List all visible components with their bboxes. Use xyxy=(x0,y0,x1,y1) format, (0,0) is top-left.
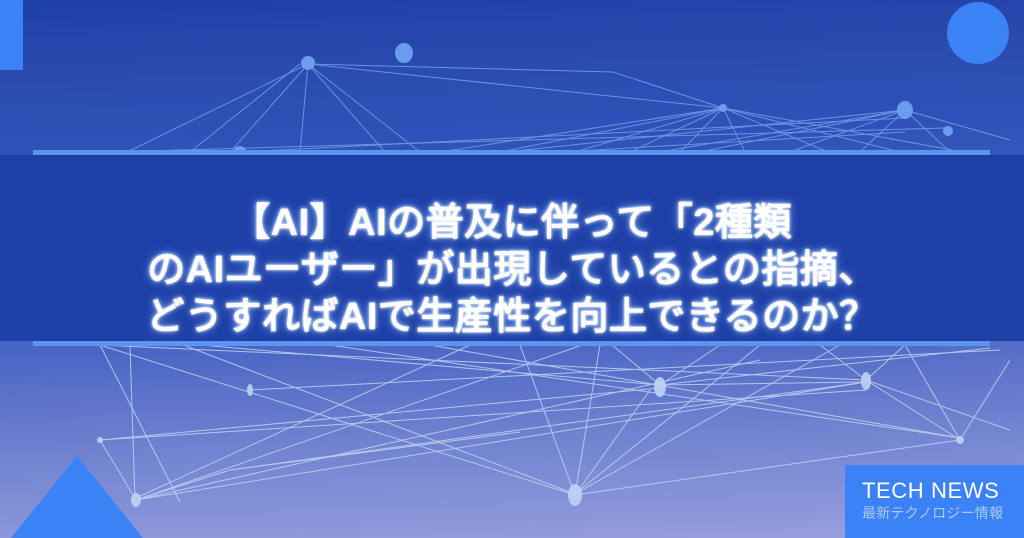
page-title-line-1: 【AI】AIの普及に伴って「2種類 xyxy=(0,200,1024,247)
square-top-left-icon xyxy=(0,0,23,70)
tech-news-banner: 【AI】AIの普及に伴って「2種類 のAIユーザー」が出現しているとの指摘、 ど… xyxy=(0,0,1024,538)
rule-above-band xyxy=(33,150,990,155)
rule-below-band xyxy=(33,341,990,346)
badge-main-label: TECH NEWS xyxy=(862,478,1024,503)
badge-sub-label: 最新テクノロジー情報 xyxy=(862,503,1024,523)
page-title-line-3: どうすればAIで生産性を向上できるのか？ xyxy=(0,294,1024,341)
page-title: 【AI】AIの普及に伴って「2種類 のAIユーザー」が出現しているとの指摘、 ど… xyxy=(0,200,1024,341)
circle-top-right-icon xyxy=(947,2,1009,64)
page-title-line-2: のAIユーザー」が出現しているとの指摘、 xyxy=(0,247,1024,294)
triangle-bottom-left-icon xyxy=(11,456,143,538)
status-badge: TECH NEWS 最新テクノロジー情報 xyxy=(845,465,1024,538)
